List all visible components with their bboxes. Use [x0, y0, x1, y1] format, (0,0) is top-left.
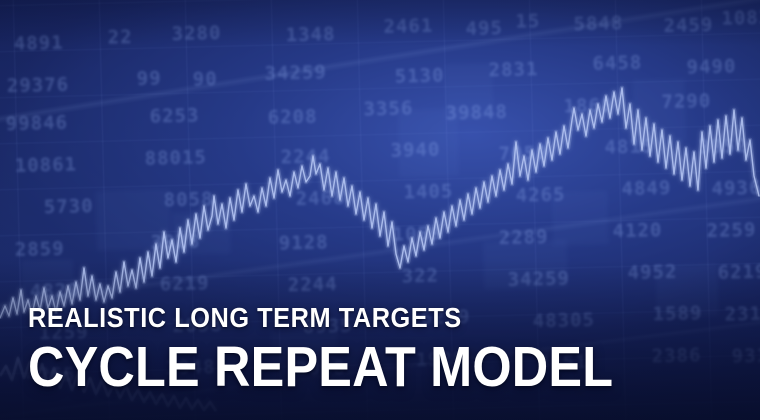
hero-banner: 4891223280134824614951558482459108329376… — [0, 0, 760, 420]
title-block: REALISTIC LONG TERM TARGETS CYCLE REPEAT… — [28, 304, 740, 396]
chart-line — [0, 88, 759, 318]
banner-title: CYCLE REPEAT MODEL — [28, 339, 658, 396]
banner-subtitle: REALISTIC LONG TERM TARGETS — [28, 304, 672, 332]
